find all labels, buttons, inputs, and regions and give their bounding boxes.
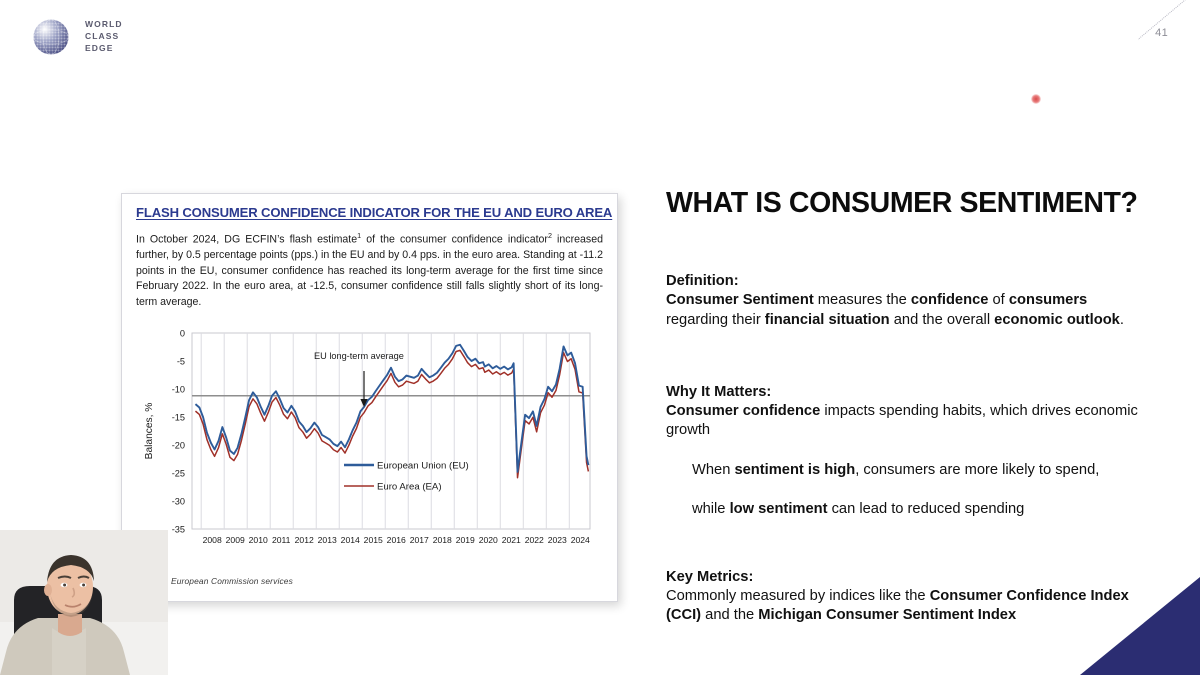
metrics-t1: Commonly measured by indices like the [666, 588, 930, 604]
y-tick-label: -15 [172, 413, 185, 423]
y-axis: 0-5-10-15-20-25-30-35 [172, 329, 185, 535]
sub-point-high-sentiment: When sentiment is high, consumers are mo… [692, 461, 1166, 480]
definition-t10: . [1120, 312, 1124, 328]
definition-label: Definition: [666, 273, 739, 289]
definition-t7: financial situation [765, 312, 890, 328]
x-tick-label: 2009 [226, 535, 245, 545]
x-tick-label: 2020 [479, 535, 498, 545]
sub2-t1: while [692, 501, 730, 517]
page-number: 41 [1155, 27, 1168, 39]
sub2-t2: low sentiment [730, 501, 828, 517]
legend-label-ea: Euro Area (EA) [377, 482, 442, 493]
annotation-label: EU long-term average [314, 351, 404, 361]
x-tick-label: 2015 [364, 535, 383, 545]
globe-icon [30, 16, 72, 58]
x-axis: 2008200920102011201220132014201520162017… [203, 535, 590, 545]
definition-t8: and the overall [890, 312, 995, 328]
x-tick-label: 2008 [203, 535, 222, 545]
x-tick-label: 2017 [410, 535, 429, 545]
metrics-label: Key Metrics: [666, 569, 753, 585]
sub1-t1: When [692, 462, 734, 478]
logo-line-1: WORLD [85, 19, 123, 31]
x-tick-label: 2013 [318, 535, 337, 545]
definition-t5: consumers [1009, 292, 1087, 308]
why-it-matters-block: Why It Matters: Consumer confidence impa… [666, 383, 1166, 440]
report-card-body: In October 2024, DG ECFIN’s flash estima… [136, 231, 603, 310]
logo-line-2: CLASS [85, 31, 123, 43]
y-tick-label: -25 [172, 469, 185, 479]
metrics-t4: Michigan Consumer Sentiment Index [758, 607, 1016, 623]
definition-t2: measures the [814, 292, 911, 308]
chart-svg: 0-5-10-15-20-25-30-35 200820092010201120… [136, 321, 605, 569]
content-panel: WHAT IS CONSUMER SENTIMENT? Definition: … [666, 188, 1166, 626]
definition-t6: regarding their [666, 312, 765, 328]
x-tick-label: 2011 [272, 535, 291, 545]
logo-line-3: EDGE [85, 43, 123, 55]
page-title: WHAT IS CONSUMER SENTIMENT? [666, 188, 1166, 219]
report-card: FLASH CONSUMER CONFIDENCE INDICATOR FOR … [121, 193, 618, 602]
x-tick-label: 2010 [249, 535, 268, 545]
x-tick-label: 2014 [341, 535, 360, 545]
sub-point-low-sentiment: while low sentiment can lead to reduced … [692, 500, 1166, 519]
y-tick-label: -20 [172, 441, 185, 451]
definition-t1: Consumer Sentiment [666, 292, 814, 308]
logo-wordmark: WORLD CLASS EDGE [85, 19, 123, 54]
presenter-webcam [0, 530, 168, 675]
corner-diagonal-decoration [1138, 0, 1200, 48]
definition-t3: confidence [911, 292, 989, 308]
brand-logo: WORLD CLASS EDGE [30, 16, 123, 58]
report-card-title: FLASH CONSUMER CONFIDENCE INDICATOR FOR … [136, 205, 603, 220]
body-text-2: of the consumer confidence indicator [361, 234, 548, 246]
legend-label-eu: European Union (EU) [377, 461, 469, 472]
x-tick-label: 2023 [548, 535, 567, 545]
x-tick-label: 2021 [502, 535, 521, 545]
y-tick-label: -5 [177, 357, 185, 367]
matters-t1: Consumer confidence [666, 403, 820, 419]
y-axis-title: Balances, % [144, 403, 155, 460]
plot-area [192, 333, 590, 529]
x-tick-label: 2016 [387, 535, 406, 545]
sub2-t3: can lead to reduced spending [828, 501, 1025, 517]
y-tick-label: -35 [172, 525, 185, 535]
x-tick-label: 2019 [456, 535, 475, 545]
cursor-marker-dot [1031, 94, 1041, 104]
definition-t4: of [988, 292, 1008, 308]
definition-block: Definition: Consumer Sentiment measures … [666, 272, 1166, 329]
body-text-1: In October 2024, DG ECFIN’s flash estima… [136, 234, 357, 246]
y-tick-label: -10 [172, 385, 185, 395]
key-metrics-block: Key Metrics: Commonly measured by indice… [666, 568, 1166, 625]
y-tick-label: 0 [180, 329, 185, 339]
x-tick-label: 2012 [295, 535, 314, 545]
x-tick-label: 2022 [525, 535, 544, 545]
metrics-t3: and the [701, 607, 758, 623]
matters-label: Why It Matters: [666, 384, 771, 400]
y-tick-label: -30 [172, 497, 185, 507]
sub1-t3: , consumers are more likely to spend, [855, 462, 1099, 478]
confidence-chart: 0-5-10-15-20-25-30-35 200820092010201120… [136, 321, 603, 569]
x-tick-label: 2024 [571, 535, 590, 545]
definition-t9: economic outlook [994, 312, 1120, 328]
x-tick-label: 2018 [433, 535, 452, 545]
sub1-t2: sentiment is high [734, 462, 855, 478]
